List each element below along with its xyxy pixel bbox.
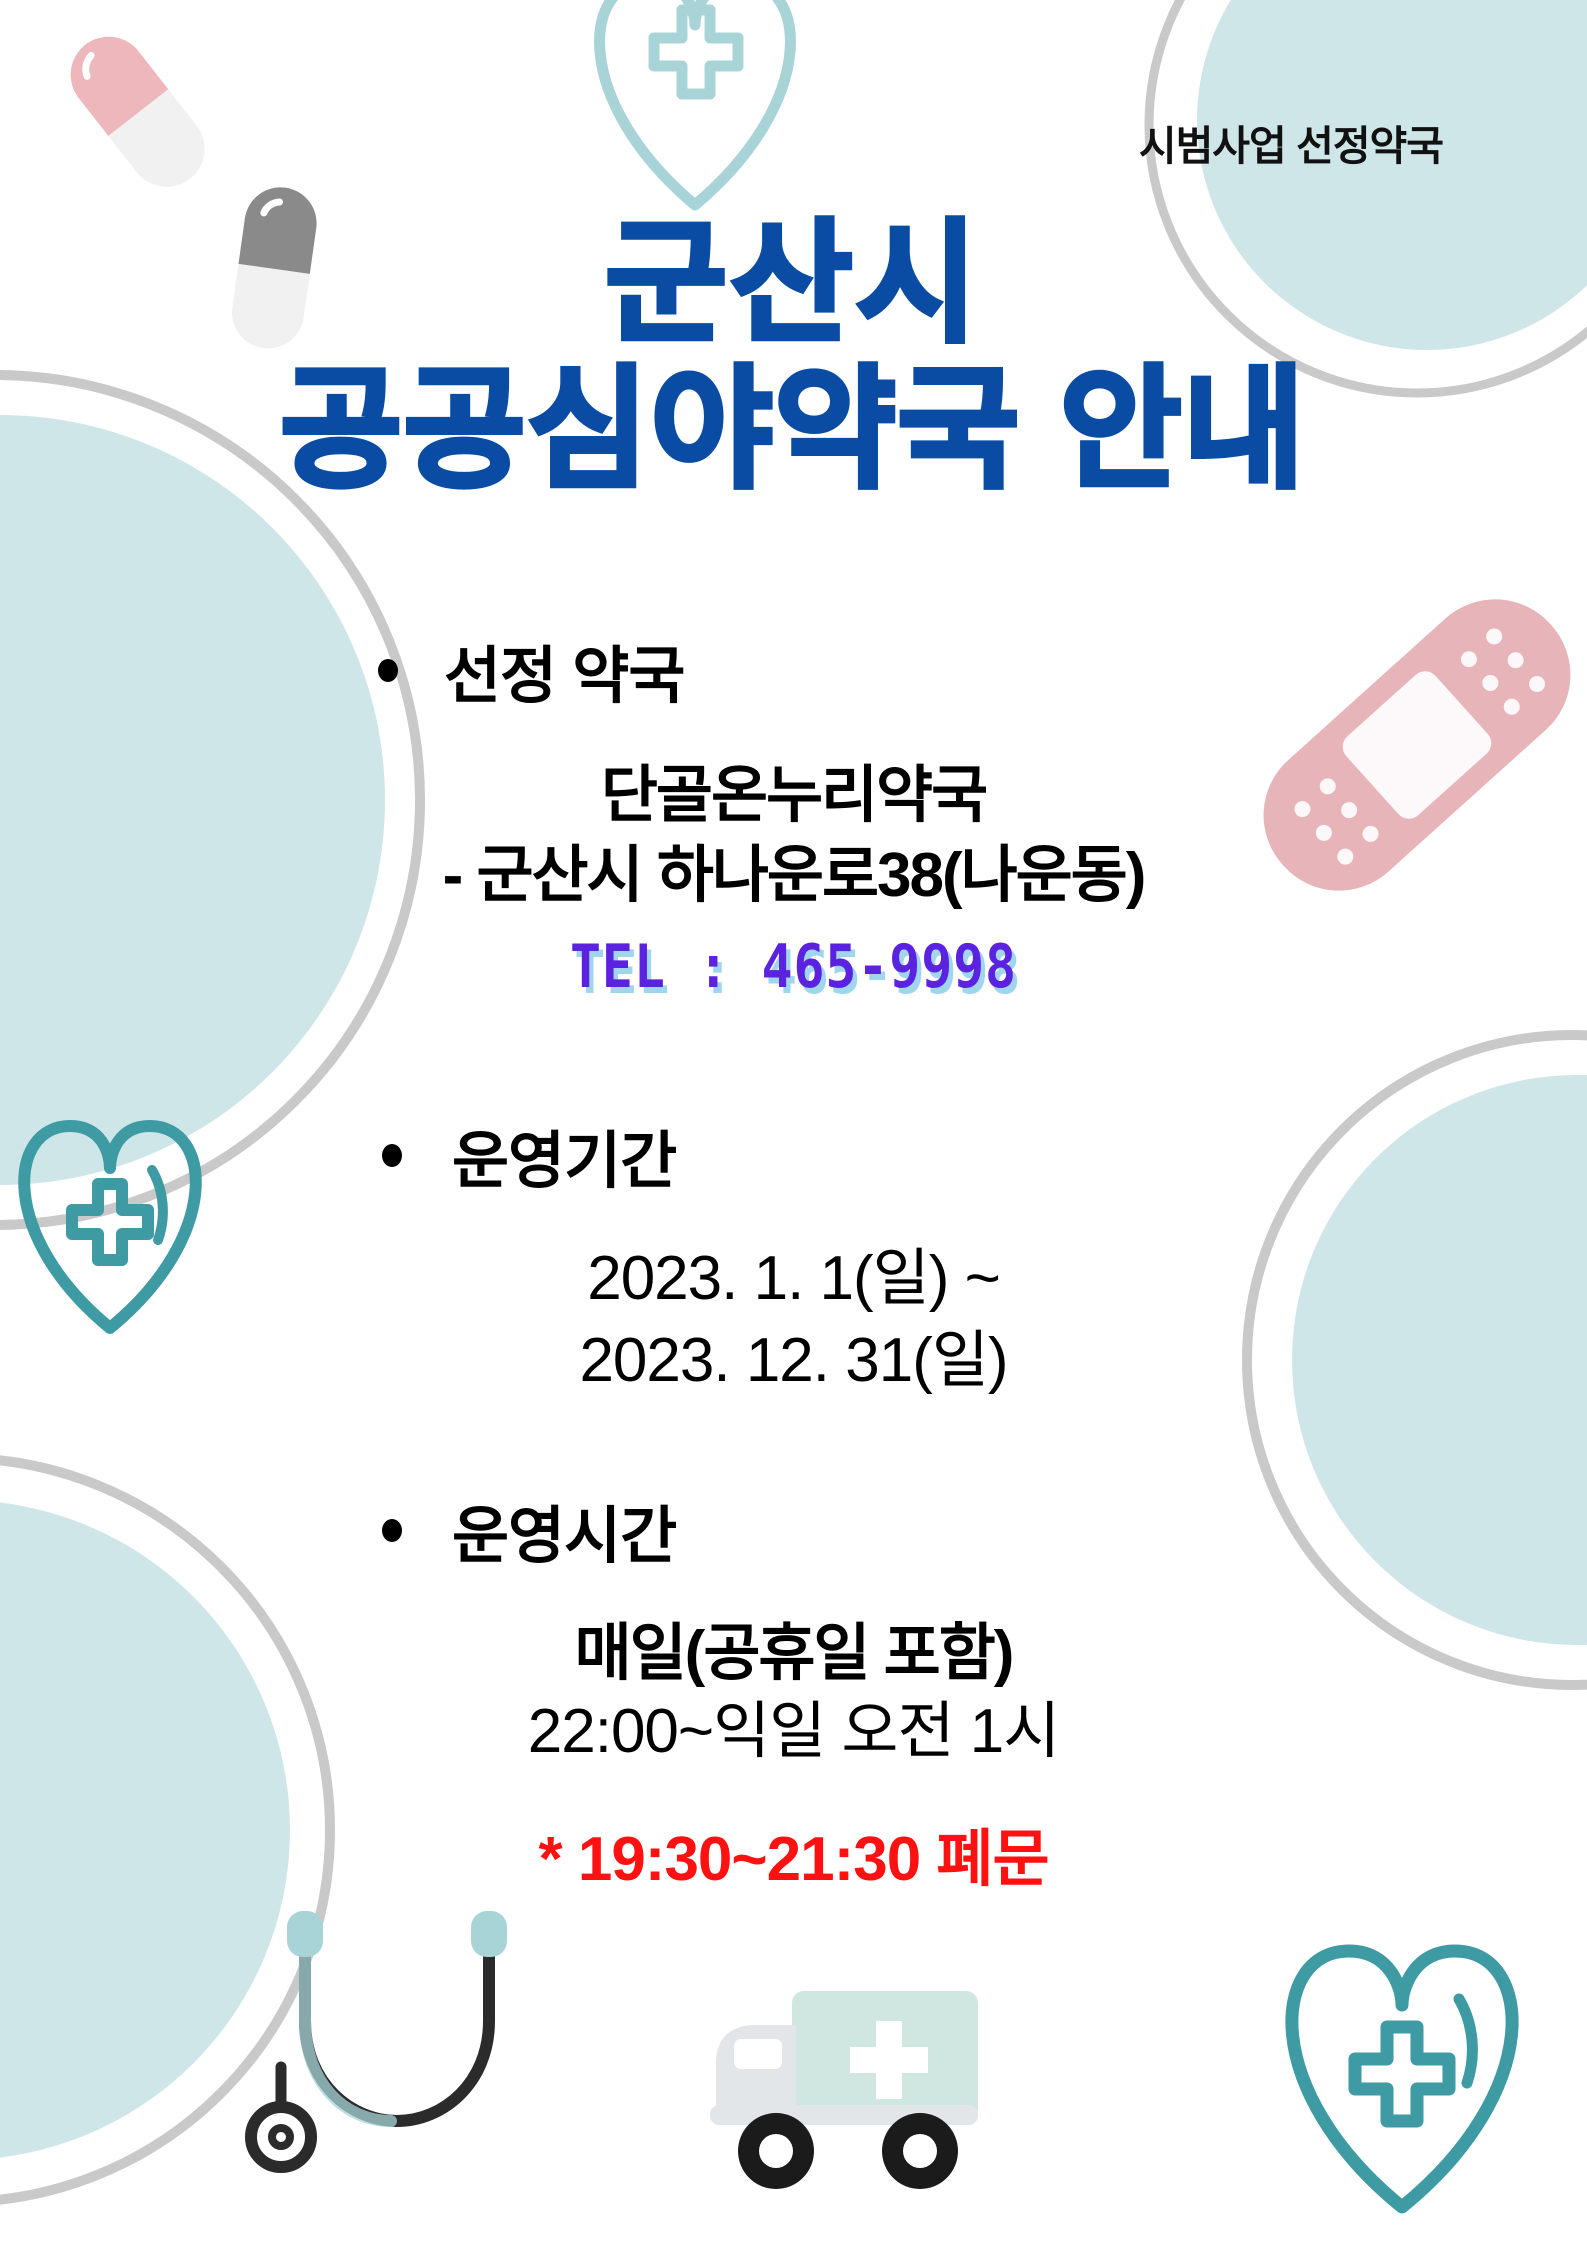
pharmacy-telephone: TEL : 465-9998 — [111, 932, 1476, 1002]
page-title: 군산시 공공심야약국 안내 — [0, 218, 1587, 496]
section-operating-period: 운영기간 2023. 1. 1(일) ~ 2023. 12. 31(일) — [0, 1110, 1587, 1400]
title-line-1: 군산시 — [0, 218, 1587, 350]
kicker-text: 시범사업 선정약국 — [0, 112, 1443, 172]
closed-notice: * 19:30~21:30 폐문 — [0, 1808, 1587, 1898]
bullet-label-operating-hours: 운영시간 — [452, 1485, 676, 1575]
bullet-row-operating-hours: 운영시간 — [0, 1485, 1587, 1575]
bullet-row-operating-period: 운영기간 — [0, 1110, 1587, 1200]
operating-hours-days: 매일(공휴일 포함) — [0, 1617, 1587, 1691]
title-line-2: 공공심야약국 안내 — [0, 364, 1587, 496]
bullet-label-selected-pharmacy: 선정 약국 — [444, 625, 684, 715]
operating-period-start: 2023. 1. 1(일) ~ — [0, 1240, 1587, 1318]
content-layer: 시범사업 선정약국 군산시 공공심야약국 안내 선정 약국 단골온누리약국 - … — [0, 0, 1587, 2245]
bullet-dot-icon — [382, 1519, 402, 1542]
bullet-dot-icon — [382, 1144, 402, 1167]
bullet-label-operating-period: 운영기간 — [452, 1110, 676, 1200]
bullet-dot-icon — [378, 659, 398, 682]
section-operating-hours: 운영시간 매일(공휴일 포함) 22:00~익일 오전 1시 * 19:30~2… — [0, 1485, 1587, 1898]
poster-root: 시범사업 선정약국 군산시 공공심야약국 안내 선정 약국 단골온누리약국 - … — [0, 0, 1587, 2245]
operating-period-end: 2023. 12. 31(일) — [0, 1322, 1587, 1400]
pharmacy-address: - 군산시 하나운로38(나운동) — [0, 839, 1587, 913]
pharmacy-name: 단골온누리약국 — [0, 759, 1587, 833]
section-selected-pharmacy: 선정 약국 단골온누리약국 - 군산시 하나운로38(나운동) TEL : 46… — [0, 625, 1587, 1002]
bullet-row-selected-pharmacy: 선정 약국 — [0, 625, 1587, 715]
operating-hours-time: 22:00~익일 오전 1시 — [0, 1693, 1587, 1771]
